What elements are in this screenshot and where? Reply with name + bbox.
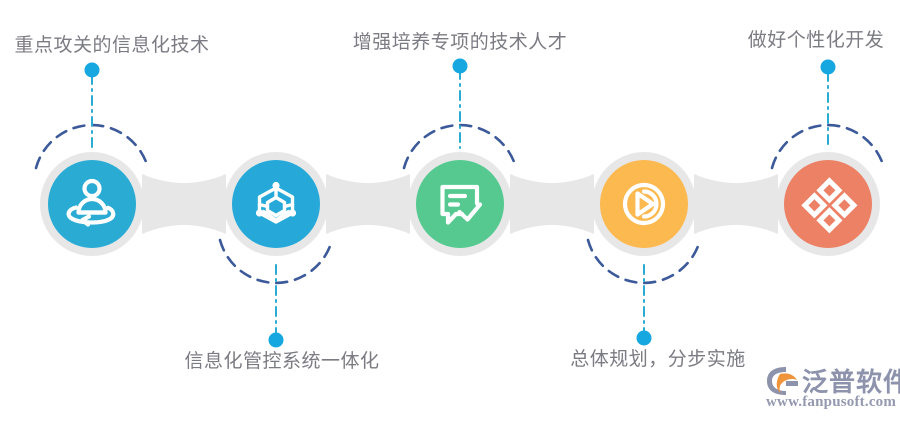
fanpu-logo-mark <box>766 366 800 396</box>
pie-arrow-icon[interactable] <box>607 167 681 241</box>
connector-1-2 <box>142 174 226 234</box>
connector-2-3 <box>326 174 410 234</box>
connector-3-4 <box>510 174 594 234</box>
node-label-3: 增强培养专项的技术人才 <box>353 33 568 54</box>
brand-watermark: 泛普软件 www.fanpusoft.com <box>766 364 896 416</box>
node-label-2: 信息化管控系统一体化 <box>184 352 379 373</box>
brand-url: www.fanpusoft.com <box>766 394 896 411</box>
node-label-1: 重点攻关的信息化技术 <box>14 36 209 57</box>
hexagon-network-icon[interactable] <box>239 167 313 241</box>
node-label-5: 做好个性化开发 <box>748 31 885 52</box>
four-diamonds-icon[interactable] <box>791 167 865 241</box>
infographic-canvas: 重点攻关的信息化技术 信息化管控系统一体化 增强培养专项的技术人才 总体规划，分… <box>0 0 900 422</box>
message-check-icon[interactable] <box>423 167 497 241</box>
person-orbit-icon[interactable] <box>55 167 129 241</box>
connector-4-5 <box>694 174 778 234</box>
node-label-4: 总体规划，分步实施 <box>570 350 746 371</box>
